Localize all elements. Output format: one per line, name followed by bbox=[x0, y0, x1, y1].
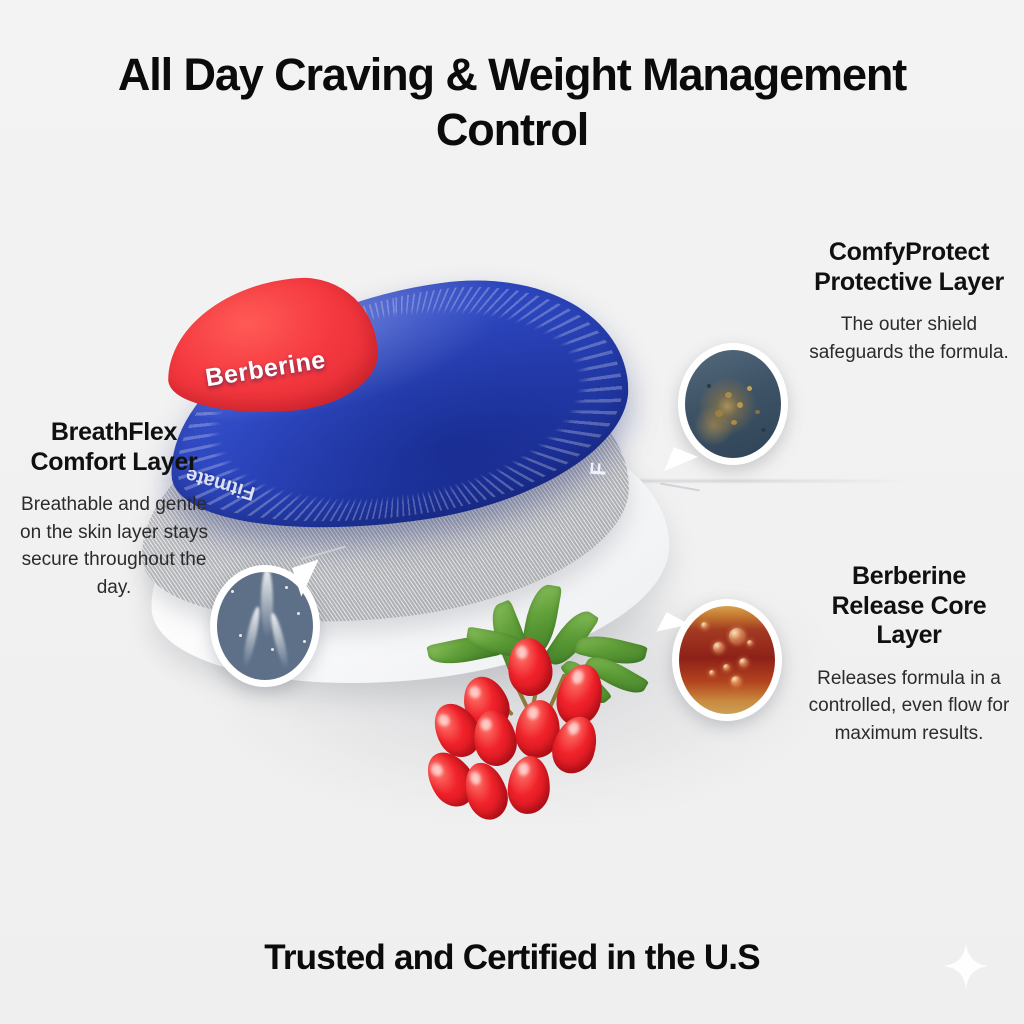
release-bubble bbox=[723, 664, 730, 671]
page-title: All Day Craving & Weight Management Cont… bbox=[42, 48, 982, 158]
release-bubble bbox=[747, 640, 753, 646]
callout-comfyprotect[interactable] bbox=[678, 343, 788, 465]
granule bbox=[731, 420, 737, 425]
skin-release-icon bbox=[679, 606, 775, 714]
granule bbox=[747, 386, 752, 391]
granule bbox=[725, 392, 732, 398]
feature-title: BreathFlex Comfort Layer bbox=[8, 418, 220, 477]
granule bbox=[737, 402, 743, 408]
patch-brand-initial: F bbox=[585, 461, 612, 476]
release-bubble bbox=[739, 658, 748, 667]
release-bubble bbox=[709, 670, 715, 676]
granule bbox=[707, 384, 711, 388]
moisture-speck bbox=[285, 586, 288, 589]
moisture-speck bbox=[231, 590, 234, 593]
feature-block-comfyprotect: ComfyProtect Protective Layer The outer … bbox=[805, 238, 1013, 366]
moisture-speck bbox=[271, 648, 274, 651]
granule-texture-icon bbox=[685, 350, 781, 458]
leader-line-right bbox=[660, 483, 700, 492]
product-infographic-poster: All Day Craving & Weight Management Cont… bbox=[0, 0, 1024, 1024]
air-stream bbox=[241, 606, 263, 669]
release-bubble bbox=[729, 628, 745, 644]
granule bbox=[715, 410, 723, 417]
feature-title: ComfyProtect Protective Layer bbox=[805, 238, 1013, 297]
feature-body: The outer shield safeguards the formula. bbox=[805, 311, 1013, 366]
release-bubble bbox=[731, 676, 741, 686]
footer-trust-statement: Trusted and Certified in the U.S bbox=[42, 938, 982, 978]
callout-pointer bbox=[664, 447, 698, 481]
feature-body: Releases formula in a controlled, even f… bbox=[805, 665, 1013, 748]
granule bbox=[761, 428, 766, 432]
barberry-cluster-image bbox=[408, 580, 658, 840]
feature-block-berberine-core: Berberine Release Core Layer Releases fo… bbox=[805, 562, 1013, 747]
release-bubble bbox=[713, 642, 724, 653]
moisture-speck bbox=[303, 640, 306, 643]
air-stream bbox=[268, 612, 291, 670]
callout-breathflex[interactable] bbox=[210, 565, 320, 687]
moisture-speck bbox=[239, 634, 242, 637]
feature-block-breathflex: BreathFlex Comfort Layer Breathable and … bbox=[8, 418, 220, 601]
release-bubble bbox=[701, 622, 708, 629]
berry bbox=[506, 755, 552, 816]
moisture-speck bbox=[297, 612, 300, 615]
feature-body: Breathable and gentle on the skin layer … bbox=[8, 491, 220, 601]
granule bbox=[755, 410, 760, 414]
feature-title: Berberine Release Core Layer bbox=[805, 562, 1013, 651]
callout-berberine-core[interactable] bbox=[672, 599, 782, 721]
